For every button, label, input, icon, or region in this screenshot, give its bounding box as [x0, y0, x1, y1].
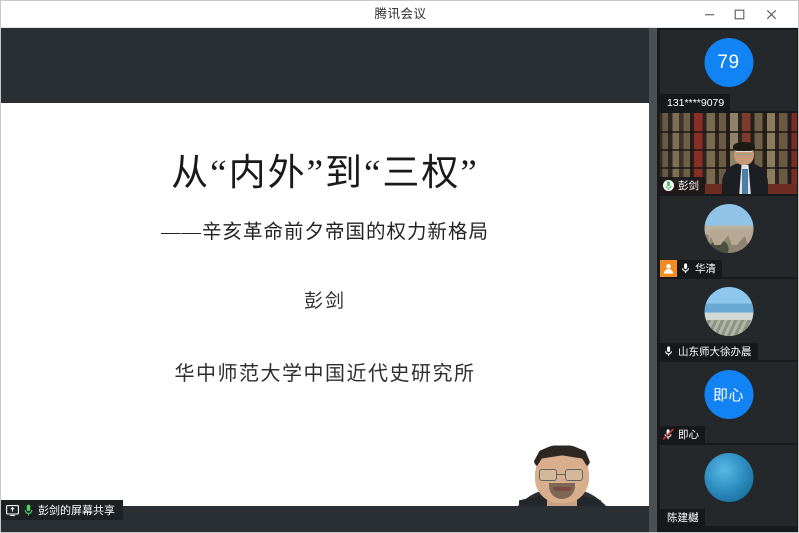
maximize-icon — [734, 9, 745, 20]
presenter-mouth — [553, 487, 571, 491]
participant-tile[interactable]: 79 131****9079 — [660, 30, 797, 111]
close-icon — [766, 9, 777, 20]
presenter-video-overlay — [479, 443, 649, 506]
screen-share-icon — [6, 505, 19, 516]
participant-hair — [733, 142, 755, 151]
slide-title: 从“内外”到“三权” — [1, 151, 649, 197]
avatar: 79 — [704, 38, 753, 87]
nameplate: 131****9079 — [660, 94, 730, 111]
host-badge-icon — [660, 260, 677, 277]
nameplate: 山东师大徐办晨 — [660, 343, 758, 360]
nameplate: 彭剑 — [660, 177, 705, 194]
microphone-icon — [660, 343, 676, 360]
nameplate: 即心 — [660, 426, 705, 443]
participant-tile[interactable]: 即心 即心 — [660, 362, 797, 443]
screen-share-label: 彭剑的屏幕共享 — [1, 500, 123, 520]
nameplate: 陈建樾 — [660, 509, 705, 526]
participant-name: 即心 — [676, 427, 699, 442]
maximize-button[interactable] — [726, 1, 752, 28]
slide-affiliation: 华中师范大学中国近代史研究所 — [1, 357, 649, 386]
participant-tile[interactable]: 陈建樾 — [660, 445, 797, 526]
panel-splitter[interactable] — [649, 28, 657, 533]
close-button[interactable] — [758, 1, 784, 28]
nameplate: 华清 — [660, 260, 722, 277]
participant-tile[interactable]: 华清 — [660, 196, 797, 277]
window-title: 腾讯会议 — [1, 1, 799, 28]
avatar — [704, 287, 753, 336]
minimize-button[interactable] — [696, 1, 722, 28]
minimize-icon — [704, 9, 715, 20]
screen-share-label-text: 彭剑的屏幕共享 — [38, 502, 115, 518]
participant-necktie — [742, 169, 748, 194]
meeting-body: 从“内外”到“三权” ——辛亥革命前夕帝国的权力新格局 彭剑 华中师范大学中国近… — [1, 28, 799, 533]
avatar — [704, 453, 753, 502]
microphone-icon — [660, 177, 676, 194]
microphone-icon — [677, 260, 693, 277]
participant-filmstrip[interactable]: 79 131****9079 — [657, 28, 799, 533]
participant-name: 陈建樾 — [665, 510, 699, 525]
participant-name: 山东师大徐办晨 — [676, 344, 752, 359]
slide-author: 彭剑 — [1, 286, 649, 313]
participant-name: 彭剑 — [676, 178, 699, 193]
microphone-icon — [24, 504, 33, 516]
participant-name: 131****9079 — [665, 97, 724, 109]
microphone-muted-icon — [660, 426, 676, 443]
tencent-meeting-window: 腾讯会议 从“内外”到“三权” ——辛亥革命前夕帝国的权力新格局 — [0, 0, 799, 533]
shared-slide: 从“内外”到“三权” ——辛亥革命前夕帝国的权力新格局 彭剑 华中师范大学中国近… — [1, 103, 649, 506]
slide-subtitle: ——辛亥革命前夕帝国的权力新格局 — [1, 215, 649, 244]
shared-screen-stage[interactable]: 从“内外”到“三权” ——辛亥革命前夕帝国的权力新格局 彭剑 华中师范大学中国近… — [1, 28, 649, 533]
window-titlebar: 腾讯会议 — [1, 1, 799, 28]
avatar — [704, 204, 753, 253]
glasses-icon — [537, 469, 587, 481]
participant-tile[interactable]: 彭剑 — [660, 113, 797, 194]
participant-name: 华清 — [693, 261, 716, 276]
glasses-icon — [736, 151, 752, 155]
participant-tile[interactable]: 山东师大徐办晨 — [660, 279, 797, 360]
avatar: 即心 — [704, 370, 753, 419]
